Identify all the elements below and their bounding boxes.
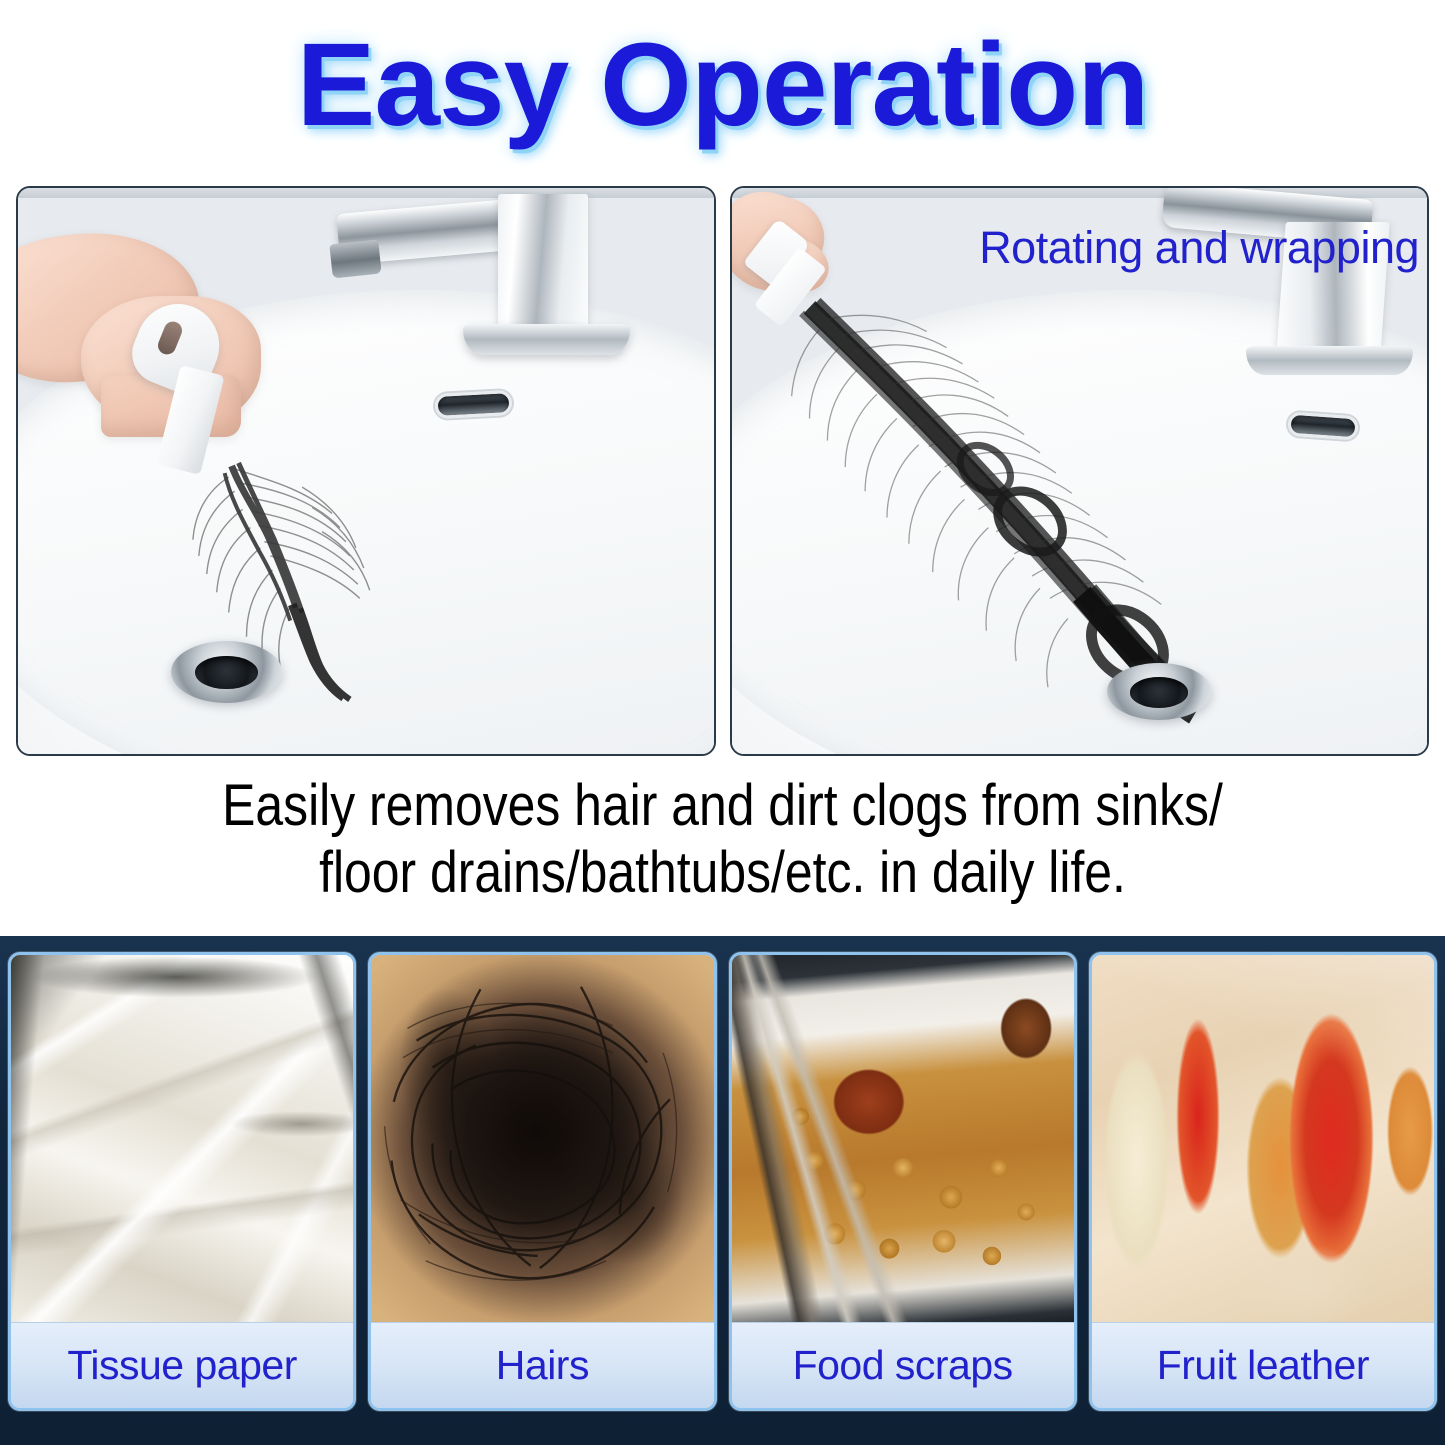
hair-strands-graphic	[18, 188, 714, 754]
photo-panel-after: Rotating and wrapping	[730, 186, 1430, 756]
category-label: Tissue paper	[11, 1322, 353, 1408]
page-title: Easy Operation	[297, 26, 1149, 144]
drain-inner-hole	[1130, 677, 1188, 708]
product-description: Easily removes hair and dirt clogs from …	[101, 772, 1344, 907]
category-label: Hairs	[371, 1322, 713, 1408]
hairs-photo	[371, 955, 713, 1322]
category-card-hairs: Hairs	[368, 952, 716, 1411]
photo-panel-before	[16, 186, 716, 756]
panel-caption-rotating-wrapping: Rotating and wrapping	[979, 222, 1419, 274]
description-line-1: Easily removes hair and dirt clogs from …	[101, 772, 1344, 839]
page-header: Easy Operation	[0, 0, 1445, 170]
drain-inner-hole	[195, 656, 257, 690]
sink-drain	[1107, 663, 1211, 720]
food-scraps-photo	[732, 955, 1074, 1322]
description-line-2: floor drains/bathtubs/etc. in daily life…	[101, 839, 1344, 906]
category-strip: Tissue paper	[0, 936, 1445, 1445]
top-panel-row: Rotating and wrapping	[16, 186, 1429, 756]
fruit-leather-photo	[1092, 955, 1434, 1322]
category-label: Food scraps	[732, 1322, 1074, 1408]
category-label: Fruit leather	[1092, 1322, 1434, 1408]
category-card-tissue-paper: Tissue paper	[8, 952, 356, 1411]
sink-drain	[171, 641, 282, 703]
category-card-food-scraps: Food scraps	[729, 952, 1077, 1411]
hair-clump-graphic	[371, 955, 713, 1322]
category-card-fruit-leather: Fruit leather	[1089, 952, 1437, 1411]
tissue-paper-photo	[11, 955, 353, 1322]
